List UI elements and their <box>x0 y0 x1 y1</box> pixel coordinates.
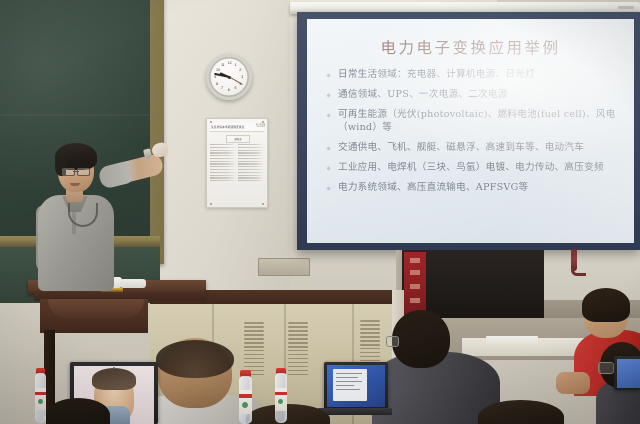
clock-numeral: 5 <box>234 86 236 90</box>
vent-slot <box>360 336 380 338</box>
slide-bullet: 通信领域、UPS、一次电源、二次电源 <box>323 89 618 102</box>
notice-row <box>238 150 264 151</box>
attendee-hair <box>582 288 630 322</box>
presentation-slide: 电力电子变换应用举例 日常生活领域：充电器、计算机电源、日光灯通信领域、UPS、… <box>307 19 634 243</box>
notice-row <box>238 152 264 153</box>
white-cloth <box>120 279 146 288</box>
banner-text-line <box>410 284 420 289</box>
cabinet-vent <box>244 322 264 375</box>
vent-slot <box>360 320 380 322</box>
eyeglass-bridge <box>73 171 79 172</box>
notice-row <box>238 169 264 170</box>
slide-bullet-list: 日常生活领域：充电器、计算机电源、日光灯通信领域、UPS、一次电源、二次电源可再… <box>323 69 618 194</box>
vent-slot <box>360 344 380 346</box>
notice-row <box>238 158 264 159</box>
notice-row <box>238 177 264 178</box>
hanging-cord-hook <box>571 266 586 276</box>
vent-slot <box>360 352 380 354</box>
clock-numeral: 3 <box>241 75 243 79</box>
notice-row <box>210 166 236 167</box>
notice-header-note: 第一教学楼2013-2014 <box>256 124 265 129</box>
notice-row <box>238 175 264 176</box>
attendee-head <box>46 398 110 424</box>
banner-text-line <box>410 298 420 303</box>
vent-slot <box>288 354 308 356</box>
notice-row <box>210 180 236 181</box>
presenter-mouth <box>70 183 80 186</box>
attendee-eyeglasses <box>598 362 614 374</box>
clock-numeral: 10 <box>216 68 220 72</box>
clock-numeral: 11 <box>221 63 225 67</box>
notice-center-box: 课程表 <box>226 135 250 143</box>
vent-slot <box>244 326 264 328</box>
vent-slot <box>288 342 308 344</box>
notice-pin <box>210 203 212 205</box>
vent-slot <box>244 338 264 340</box>
vent-slot <box>360 328 380 330</box>
clock-face: 121234567891011 <box>211 59 247 95</box>
vent-slot <box>244 358 264 360</box>
vent-slot <box>360 340 380 342</box>
clock-minute-hand <box>214 73 229 78</box>
vent-slot <box>244 334 264 336</box>
attendee-head <box>392 310 450 368</box>
notice-row <box>210 161 236 162</box>
slide-bullet: 工业应用、电焊机（三块、鸟氩）电镀、电力传动、高压变频 <box>323 162 618 175</box>
slide-bullet: 日常生活领域：充电器、计算机电源、日光灯 <box>323 69 618 82</box>
eyeglass-lens <box>62 168 75 176</box>
notice-row <box>210 175 236 176</box>
notice-row <box>238 161 264 162</box>
notice-columns <box>210 144 264 202</box>
clock-numeral: 9 <box>214 75 216 79</box>
vent-slot <box>288 358 308 360</box>
presenter-eyeglasses <box>62 168 90 174</box>
vent-slot <box>244 346 264 348</box>
vent-slot <box>288 330 308 332</box>
slide-title: 电力电子变换应用举例 <box>323 36 618 58</box>
notice-center-box-text: 课程表 <box>234 137 241 141</box>
vent-slot <box>244 342 264 344</box>
vent-slot <box>288 322 308 324</box>
clock-numeral: 8 <box>216 82 218 86</box>
slide-bullet: 可再生能源（光伏(photovoltaic)、燃料电池(fuel cell)、风… <box>323 109 618 134</box>
eyeglass-lens <box>77 168 90 176</box>
clock-numeral: 2 <box>239 68 241 72</box>
lecture-hall-photo: 121234567891011 某某学院本学期课程安排表 第一教学楼2013-2… <box>0 0 640 424</box>
notice-row <box>210 155 236 156</box>
banner-text-line <box>410 270 420 275</box>
slide-bullet: 电力系统领域、高压直流输电、APFSVG等 <box>323 182 618 195</box>
vent-slot <box>360 348 380 350</box>
attendee-eyeglasses <box>386 336 399 347</box>
notice-row <box>238 172 264 173</box>
notice-column <box>210 144 236 202</box>
projection-screen: 电力电子变换应用举例 日常生活领域：充电器、计算机电源、日光灯通信领域、UPS、… <box>307 19 634 243</box>
notice-row <box>210 147 236 148</box>
clock-numeral: 1 <box>234 63 236 67</box>
notice-row <box>238 180 264 181</box>
notice-row <box>238 163 264 164</box>
clock-numeral: 12 <box>228 61 232 65</box>
vent-slot <box>360 356 380 358</box>
wall-mounted-box <box>258 258 310 276</box>
vent-slot <box>244 322 264 324</box>
lectern-apron <box>48 299 144 319</box>
clock-numeral: 6 <box>228 88 230 92</box>
vent-slot <box>288 338 308 340</box>
slide-bullet: 交通供电、飞机、舰艇、磁悬浮、高速到车等、电动汽车 <box>323 142 618 155</box>
attendee-hair <box>156 340 234 378</box>
wall-clock: 121234567891011 <box>206 54 252 100</box>
notice-row <box>210 144 236 145</box>
notice-row <box>238 147 264 148</box>
vent-slot <box>288 346 308 348</box>
vent-slot <box>288 334 308 336</box>
vent-slot <box>244 330 264 332</box>
notice-column <box>238 144 264 202</box>
notice-row <box>238 166 264 167</box>
vent-slot <box>244 354 264 356</box>
notice-header-text: 某某学院本学期课程安排表 <box>210 125 245 129</box>
vent-slot <box>244 362 264 364</box>
notice-row <box>210 152 236 153</box>
notice-row <box>210 169 236 170</box>
notice-row <box>210 163 236 164</box>
vent-slot <box>244 366 264 368</box>
paper-sheet <box>486 336 538 344</box>
vent-slot <box>288 370 308 372</box>
vent-slot <box>244 350 264 352</box>
banner-text-line <box>410 258 420 263</box>
vent-slot <box>288 326 308 328</box>
vent-slot <box>360 324 380 326</box>
notice-pin <box>262 203 264 205</box>
notice-row <box>238 144 264 145</box>
screen-housing-cap <box>618 6 634 9</box>
vent-slot <box>288 362 308 364</box>
vent-slot <box>288 374 308 376</box>
cabinet-vent <box>288 322 308 375</box>
attendee-arm <box>556 372 590 394</box>
notice-row <box>210 158 236 159</box>
laptop-photo-hair <box>92 368 136 390</box>
notice-row <box>210 150 236 151</box>
vent-slot <box>288 350 308 352</box>
vent-slot <box>360 332 380 334</box>
notice-row <box>210 177 236 178</box>
notice-row <box>210 172 236 173</box>
clock-numeral: 7 <box>221 86 223 90</box>
notice-row <box>238 155 264 156</box>
clock-numeral: 4 <box>239 82 241 86</box>
notice-board: 某某学院本学期课程安排表 第一教学楼2013-2014 课程表 <box>206 118 268 208</box>
vent-slot <box>288 366 308 368</box>
